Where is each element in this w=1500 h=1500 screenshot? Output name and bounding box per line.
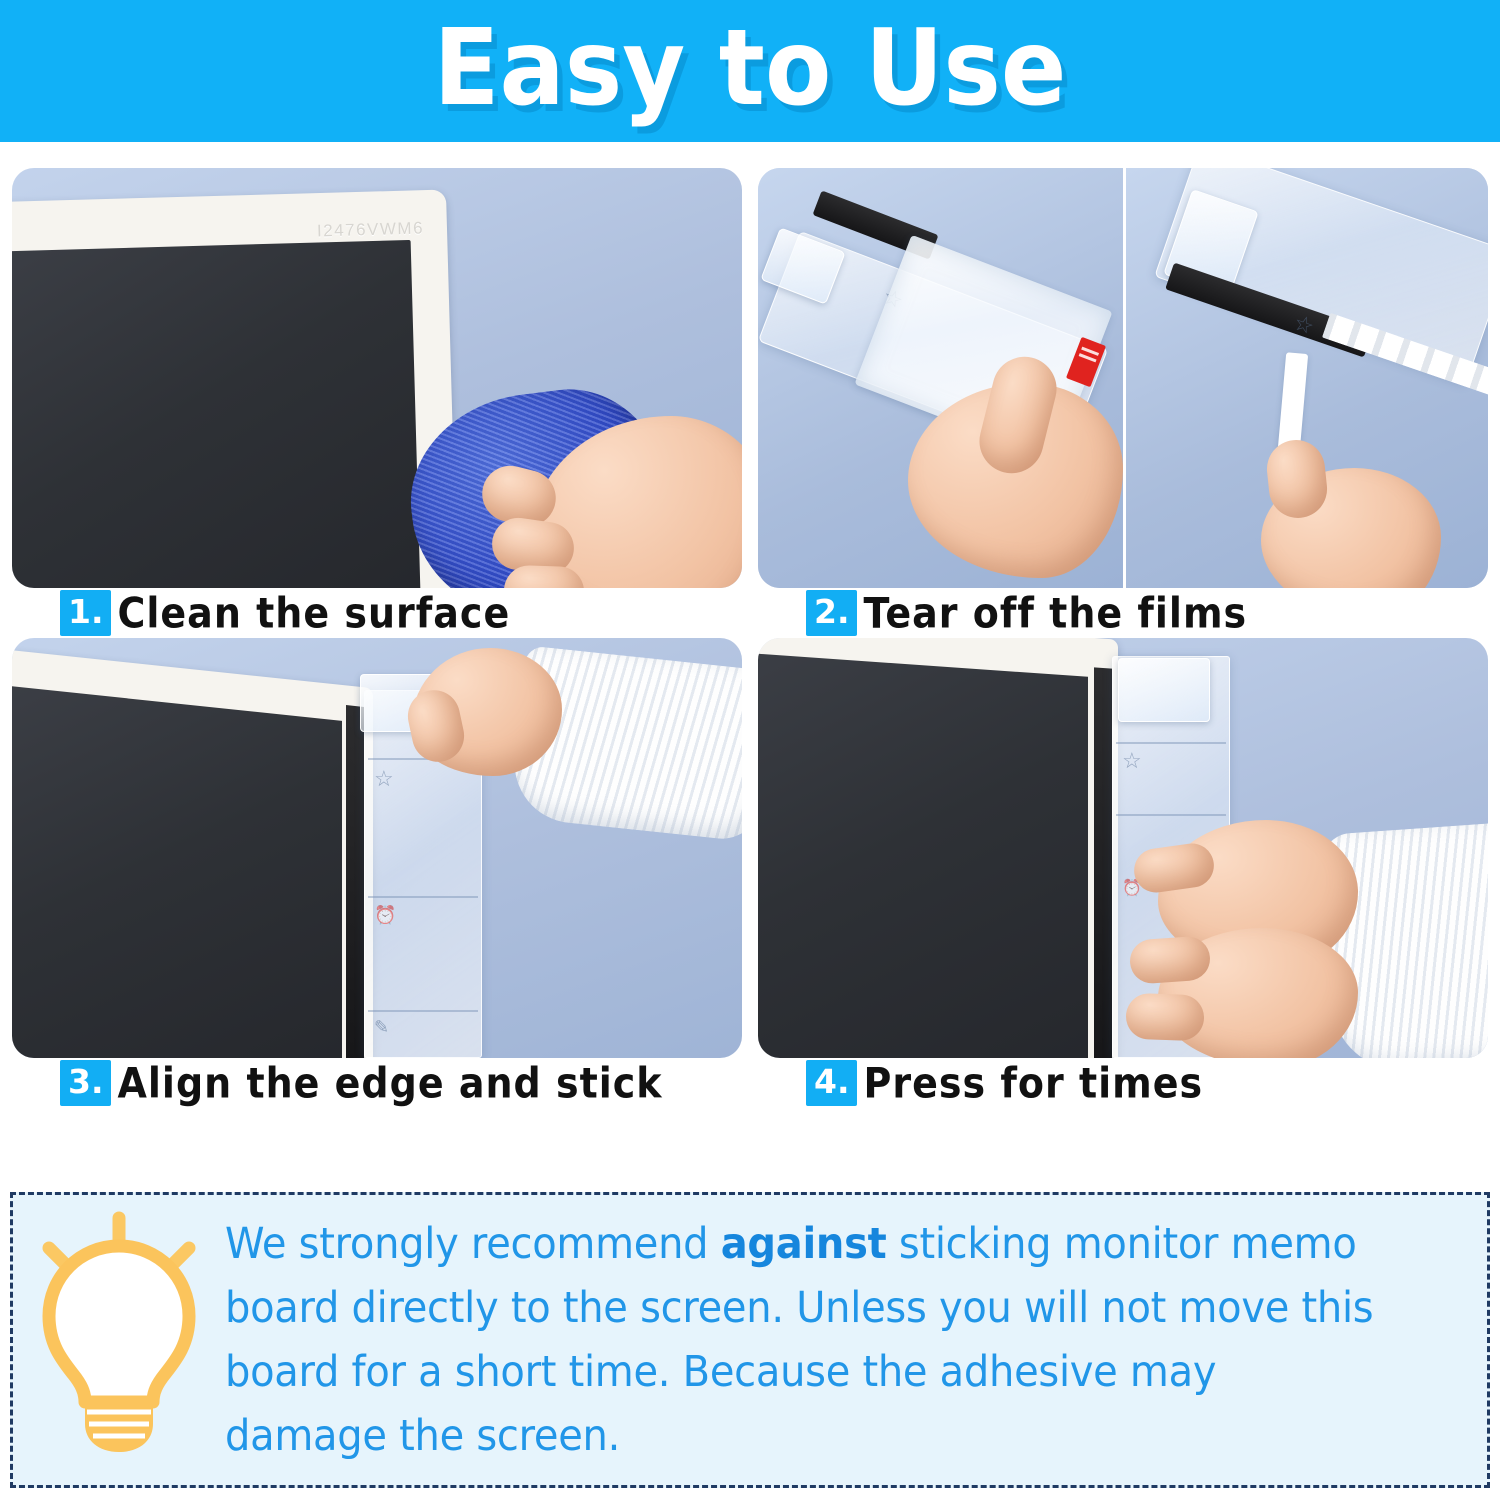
photo-press-board: ☆ ⏰ xyxy=(758,638,1488,1058)
step-3-caption: 3. Align the edge and stick xyxy=(12,1058,742,1108)
monitor-side-edge xyxy=(1094,667,1112,1058)
memo-icon: ✎ xyxy=(374,1016,389,1038)
monitor-model-label: I2476VWM6 xyxy=(317,219,425,242)
board-divider-line xyxy=(1116,742,1226,744)
memo-icon: ⏰ xyxy=(374,904,396,926)
step-4-photo: ☆ ⏰ xyxy=(758,638,1488,1058)
step-4-number-badge: 4. xyxy=(806,1060,857,1106)
star-icon: ☆ xyxy=(1122,750,1142,772)
board-divider-line xyxy=(1116,814,1226,816)
monitor-side-edge xyxy=(346,705,364,1058)
page-title: Easy to Use xyxy=(434,16,1067,127)
step-1-photo: I2476VWM6 xyxy=(12,168,742,588)
monitor-screen xyxy=(758,651,1088,1058)
photo-peel-adhesive-backing: ☆ xyxy=(1123,168,1488,588)
step-1-caption: 1. Clean the surface xyxy=(12,588,742,638)
step-4-caption: 4. Press for times xyxy=(758,1058,1488,1108)
step-3-label: Align the edge and stick xyxy=(118,1061,663,1105)
step-4-label: Press for times xyxy=(864,1061,1204,1105)
warning-note-text: We strongly recommend against sticking m… xyxy=(225,1212,1399,1468)
lightbulb-icon xyxy=(13,1210,225,1470)
step-2-caption: 2. Tear off the films xyxy=(758,588,1488,638)
step-2-photo: ☆ ☆ xyxy=(758,168,1488,588)
note-bold-word: against xyxy=(721,1219,887,1269)
step-2-number-badge: 2. xyxy=(806,590,857,636)
board-divider-line xyxy=(368,896,478,898)
finger xyxy=(1129,935,1212,984)
steps-grid: I2476VWM6 ☆ xyxy=(12,168,1488,1170)
star-icon: ☆ xyxy=(374,768,394,790)
monitor-screen xyxy=(12,240,421,588)
photo-tear-off-films: ☆ ☆ xyxy=(758,168,1488,588)
header-banner: Easy to Use xyxy=(0,0,1500,142)
board-clip xyxy=(1118,658,1210,722)
photo-clean-surface: I2476VWM6 xyxy=(12,168,742,588)
photo-align-edge: ☆ ⏰ ✎ xyxy=(12,638,742,1058)
monitor-screen xyxy=(12,683,342,1058)
infographic-page: Easy to Use I2476VWM6 xyxy=(0,0,1500,1500)
photo-peel-protective-film: ☆ xyxy=(758,168,1123,588)
warning-note-box: We strongly recommend against sticking m… xyxy=(10,1192,1490,1488)
step-3-number-badge: 3. xyxy=(60,1060,111,1106)
step-1-label: Clean the surface xyxy=(118,591,511,635)
step-2-label: Tear off the films xyxy=(864,591,1248,635)
finger xyxy=(1125,993,1205,1042)
step-3-photo: ☆ ⏰ ✎ xyxy=(12,638,742,1058)
step-1-number-badge: 1. xyxy=(60,590,111,636)
board-divider-line xyxy=(368,1010,478,1012)
note-text-before: We strongly recommend xyxy=(225,1219,721,1269)
